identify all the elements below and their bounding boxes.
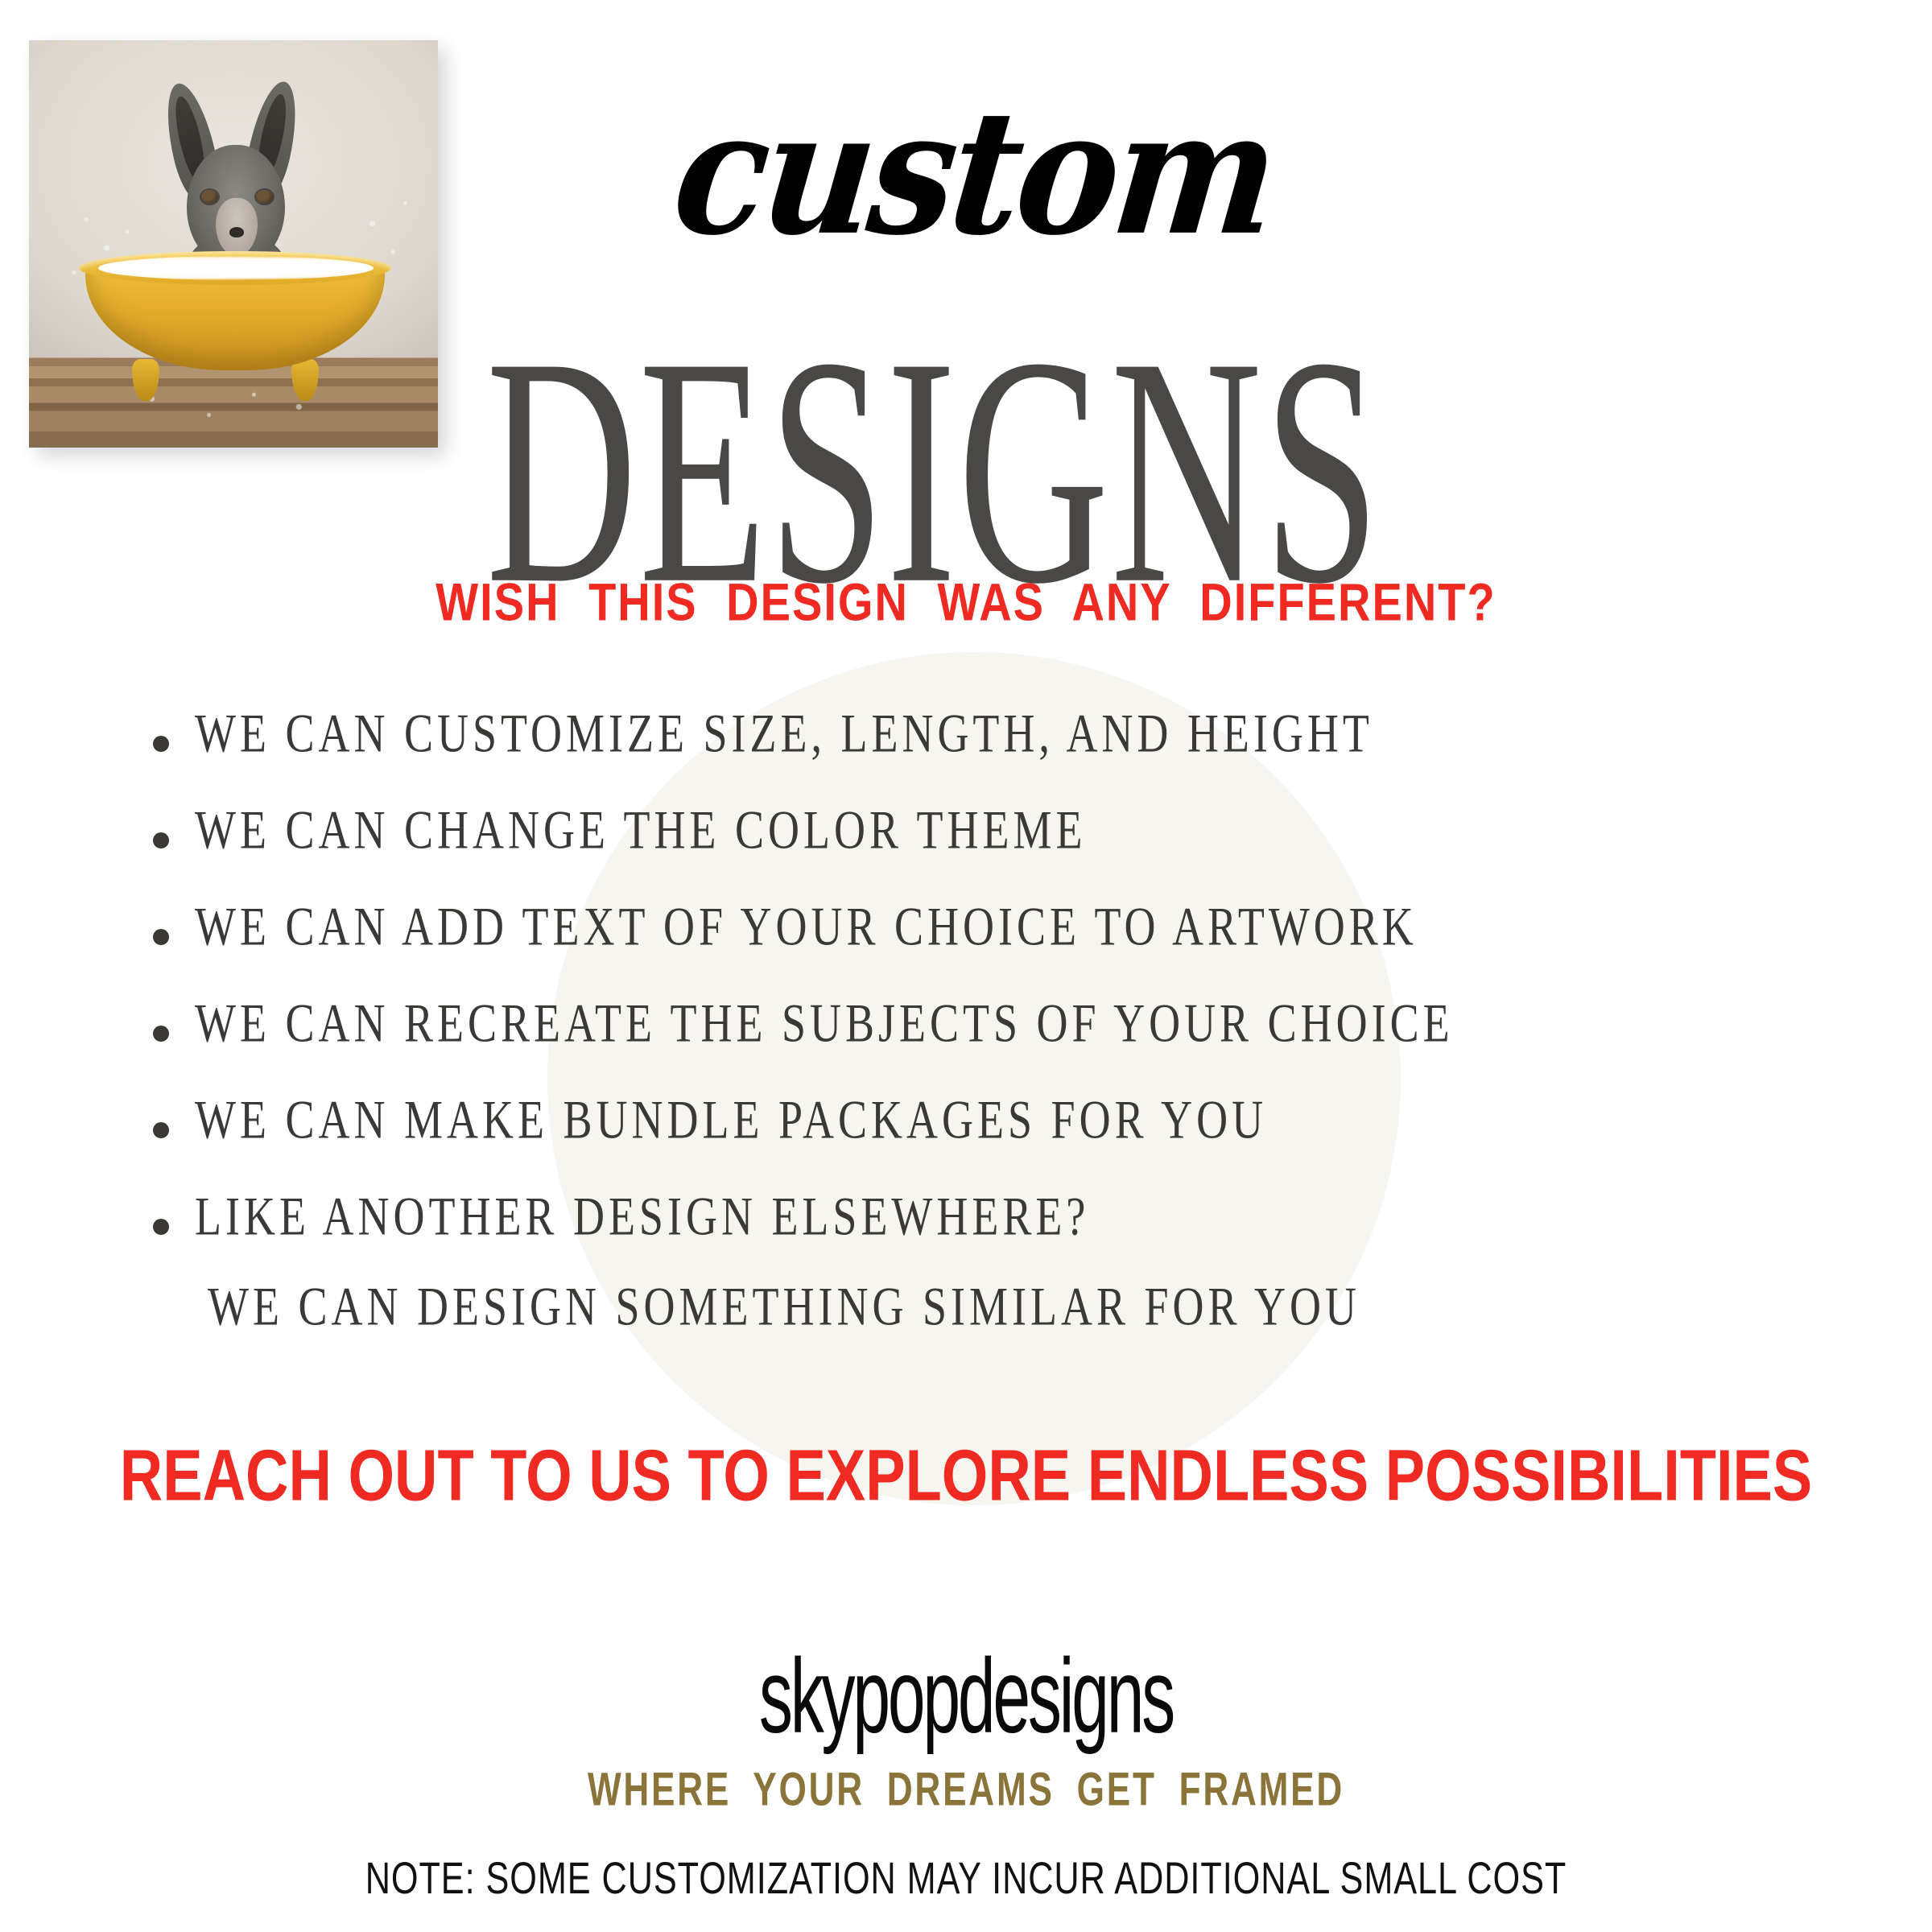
kangaroo-eye-left-icon (201, 190, 218, 204)
bullet-dot-icon (153, 1219, 169, 1235)
bullet-dot-icon (153, 929, 169, 945)
list-item: WE CAN ADD TEXT OF YOUR CHOICE TO ARTWOR… (153, 902, 1860, 998)
list-item-label: LIKE ANOTHER DESIGN ELSEWHERE? (195, 1185, 1089, 1248)
list-item: WE CAN RECREATE THE SUBJECTS OF YOUR CHO… (153, 998, 1860, 1095)
list-item-label: WE CAN RECREATE THE SUBJECTS OF YOUR CHO… (195, 992, 1454, 1055)
list-item: LIKE ANOTHER DESIGN ELSEWHERE? (153, 1191, 1860, 1288)
bath-foam-icon (98, 256, 374, 280)
list-item-label: WE CAN CUSTOMIZE SIZE, LENGTH, AND HEIGH… (195, 702, 1373, 765)
kangaroo-eye-right-icon (256, 190, 273, 204)
list-item: WE CAN CHANGE THE COLOR THEME (153, 805, 1860, 902)
bullet-dot-icon (153, 1026, 169, 1042)
feature-list: WE CAN CUSTOMIZE SIZE, LENGTH, AND HEIGH… (153, 708, 1860, 1288)
list-item-label: WE CAN ADD TEXT OF YOUR CHOICE TO ARTWOR… (195, 895, 1418, 958)
list-item: WE CAN MAKE BUNDLE PACKAGES FOR YOU (153, 1095, 1860, 1191)
list-item-label: WE CAN CHANGE THE COLOR THEME (195, 799, 1086, 861)
brand-tagline: WHERE YOUR DREAMS GET FRAMED (77, 1763, 1855, 1817)
kangaroo-nose-icon (229, 227, 244, 237)
script-headline: custom (442, 88, 1506, 259)
continuation-line: WE CAN DESIGN SOMETHING SIMILAR FOR YOU (208, 1275, 1360, 1338)
artwork-canvas (29, 40, 438, 448)
bullet-dot-icon (153, 832, 169, 848)
footer-note: NOTE: SOME CUSTOMIZATION MAY INCUR ADDIT… (58, 1852, 1874, 1905)
tagline-question: WISH THIS DESIGN WAS ANY DIFFERENT? (0, 571, 1932, 633)
brand-logo-text: skypopdesigns (193, 1637, 1739, 1757)
call-to-action: REACH OUT TO US TO EXPLORE ENDLESS POSSI… (0, 1434, 1932, 1517)
bullet-dot-icon (153, 1122, 169, 1138)
artwork-thumbnail[interactable] (29, 40, 438, 448)
list-item-label: WE CAN MAKE BUNDLE PACKAGES FOR YOU (195, 1088, 1267, 1151)
list-item: WE CAN CUSTOMIZE SIZE, LENGTH, AND HEIGH… (153, 708, 1860, 805)
bullet-dot-icon (153, 736, 169, 752)
